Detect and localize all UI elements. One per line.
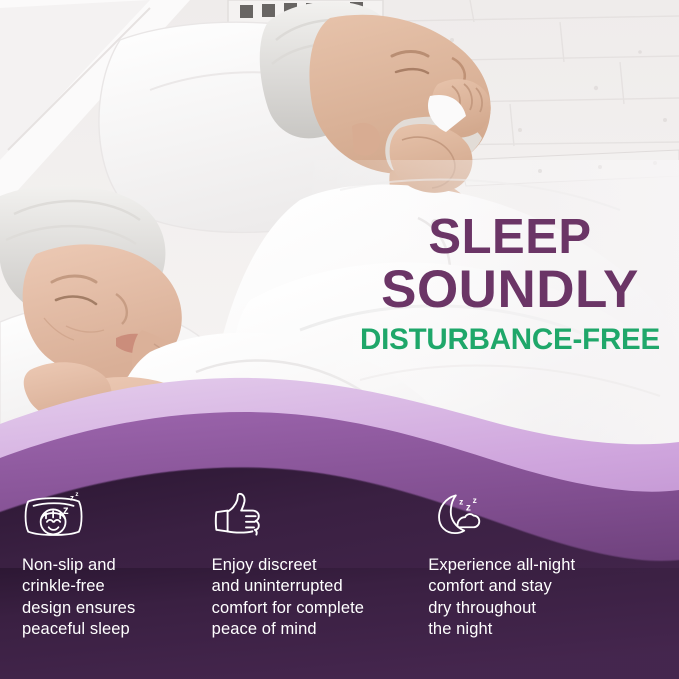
feature-item: z z z Experience all-night comfort and s… bbox=[428, 487, 657, 679]
feature-text: Enjoy discreet and uninterrupted comfort… bbox=[212, 555, 419, 641]
svg-text:z: z bbox=[459, 497, 463, 507]
crescent-moon-sleep-icon: z z z bbox=[434, 487, 486, 539]
headline-line-2: SOUNDLY bbox=[352, 264, 668, 315]
thumbs-up-icon bbox=[214, 487, 262, 539]
feature-text: Experience all-night comfort and stay dr… bbox=[428, 555, 657, 641]
svg-text:z: z bbox=[63, 505, 69, 517]
headline-subtitle: DISTURBANCE-FREE bbox=[352, 323, 668, 357]
product-banner: SLEEP SOUNDLY DISTURBANCE-FREE bbox=[0, 0, 679, 679]
svg-text:z: z bbox=[466, 502, 471, 513]
feature-item: Enjoy discreet and uninterrupted comfort… bbox=[212, 487, 429, 679]
svg-text:z: z bbox=[473, 495, 477, 505]
headline-block: SLEEP SOUNDLY DISTURBANCE-FREE bbox=[352, 214, 668, 357]
sleeping-face-pillow-icon: z z z bbox=[22, 487, 86, 539]
svg-text:z: z bbox=[75, 491, 78, 498]
svg-text:z: z bbox=[70, 494, 74, 503]
features-row: z z z Non-slip and crinkle-free design e… bbox=[0, 487, 679, 679]
feature-text: Non-slip and crinkle-free design ensures… bbox=[22, 555, 198, 641]
headline-line-1: SLEEP bbox=[352, 214, 668, 262]
feature-item: z z z Non-slip and crinkle-free design e… bbox=[22, 487, 212, 679]
